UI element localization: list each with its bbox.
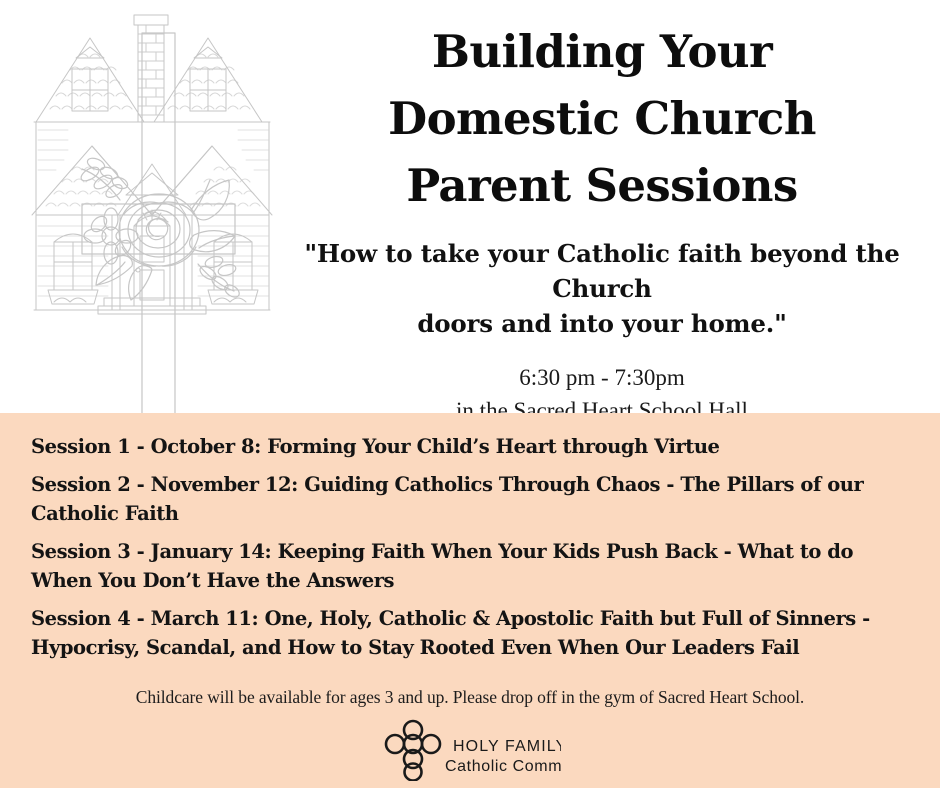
session-item-3: Session 3 - January 14: Keeping Faith Wh… xyxy=(31,537,909,595)
session-item-4: Session 4 - March 11: One, Holy, Catholi… xyxy=(31,604,909,662)
artwork-illustration xyxy=(28,14,278,418)
tagline-quote: "How to take your Catholic faith beyond … xyxy=(282,236,922,341)
sessions-list: Session 1 - October 8: Forming Your Chil… xyxy=(31,432,909,662)
holy-family-circles-cross-icon xyxy=(386,721,440,781)
session-item-2: Session 2 - November 12: Guiding Catholi… xyxy=(31,470,909,528)
tagline-line-2: doors and into your home." xyxy=(282,306,922,341)
tagline-line-1: "How to take your Catholic faith beyond … xyxy=(282,236,922,306)
session-item-1: Session 1 - October 8: Forming Your Chil… xyxy=(31,432,909,461)
flyer-canvas: Building Your Domestic Church Parent Ses… xyxy=(0,0,940,788)
page-title-line-2: Domestic Church xyxy=(282,85,922,152)
logo-text-line-2: Catholic Community xyxy=(445,758,561,775)
page-title-line-1: Building Your xyxy=(282,18,922,85)
page-title-line-3: Parent Sessions xyxy=(282,152,922,219)
childcare-note: Childcare will be available for ages 3 a… xyxy=(0,685,940,709)
event-time: 6:30 pm - 7:30pm xyxy=(282,361,922,394)
logo-text-line-1: HOLY FAMILY xyxy=(453,738,561,755)
header-block: Building Your Domestic Church Parent Ses… xyxy=(282,18,922,427)
organization-logo: HOLY FAMILY Catholic Community xyxy=(383,719,561,781)
